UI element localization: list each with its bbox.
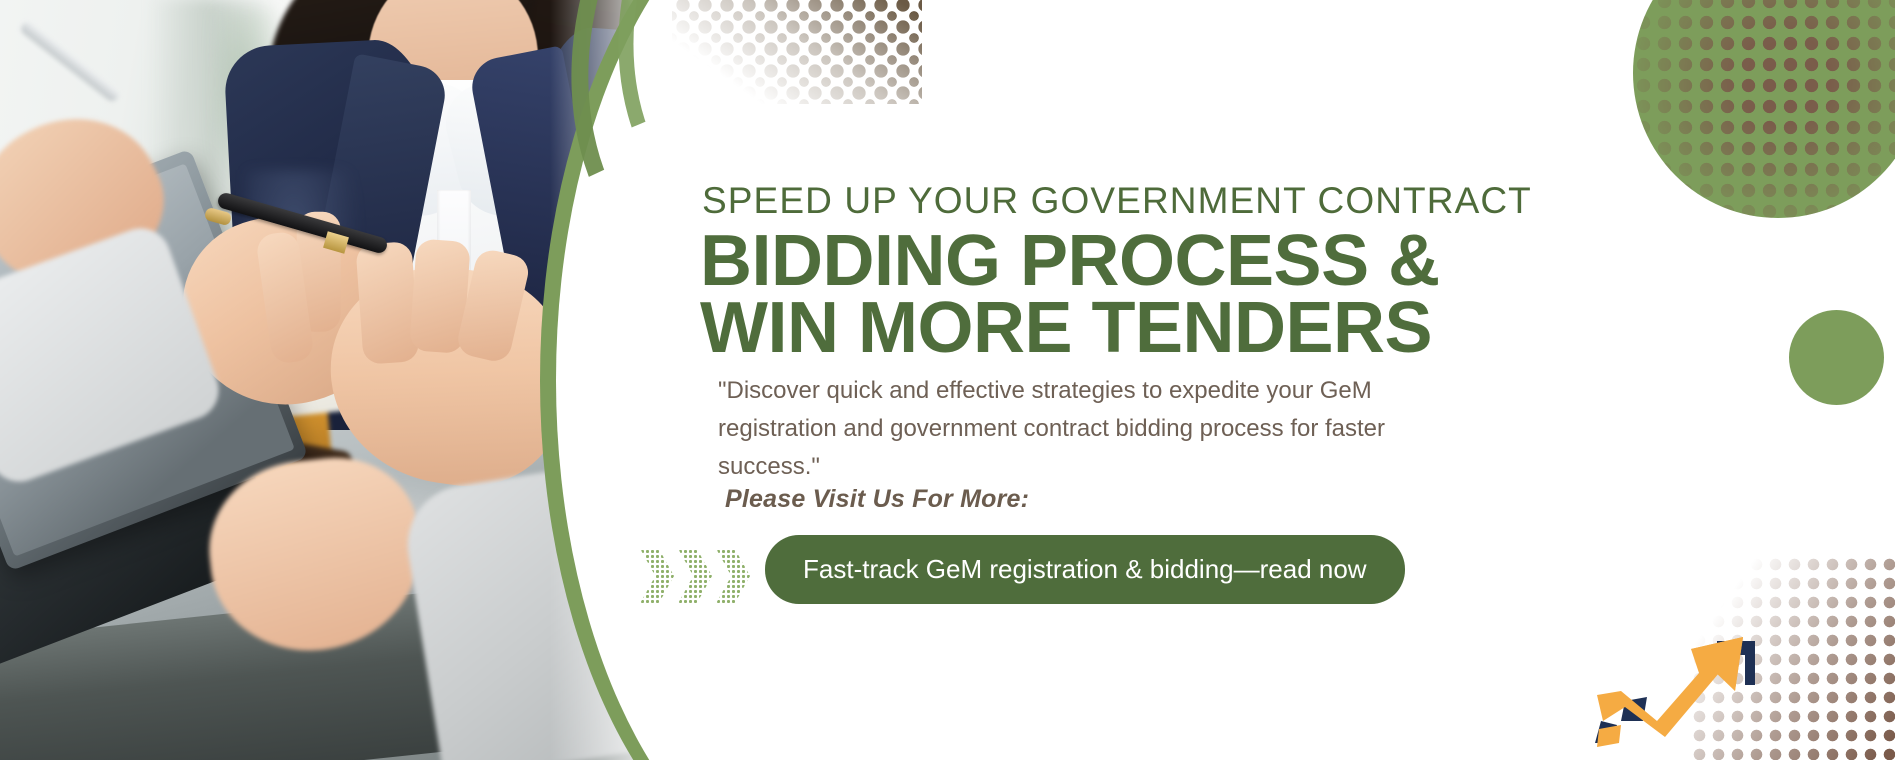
eyebrow-text: SPEED UP YOUR GOVERNMENT CONTRACT (702, 180, 1532, 222)
finger (355, 241, 419, 365)
cta-row: Fast-track GeM registration & bidding—re… (640, 535, 1340, 620)
chevron-right-icon (678, 549, 712, 604)
chevron-right-icon (640, 549, 674, 604)
headline-line-2: WIN MORE TENDERS (700, 295, 1440, 362)
visit-label: Please Visit Us For More: (725, 485, 1029, 514)
chevron-arrows-icon (640, 547, 750, 605)
chevron-right-icon (716, 549, 750, 604)
page-title: BIDDING PROCESS & WIN MORE TENDERS (700, 228, 1440, 362)
cta-button[interactable]: Fast-track GeM registration & bidding—re… (765, 535, 1405, 604)
content-column: SPEED UP YOUR GOVERNMENT CONTRACT BIDDIN… (700, 0, 1895, 760)
subcopy-text: "Discover quick and effective strategies… (718, 372, 1438, 486)
promotional-banner: SPEED UP YOUR GOVERNMENT CONTRACT BIDDIN… (0, 0, 1895, 760)
